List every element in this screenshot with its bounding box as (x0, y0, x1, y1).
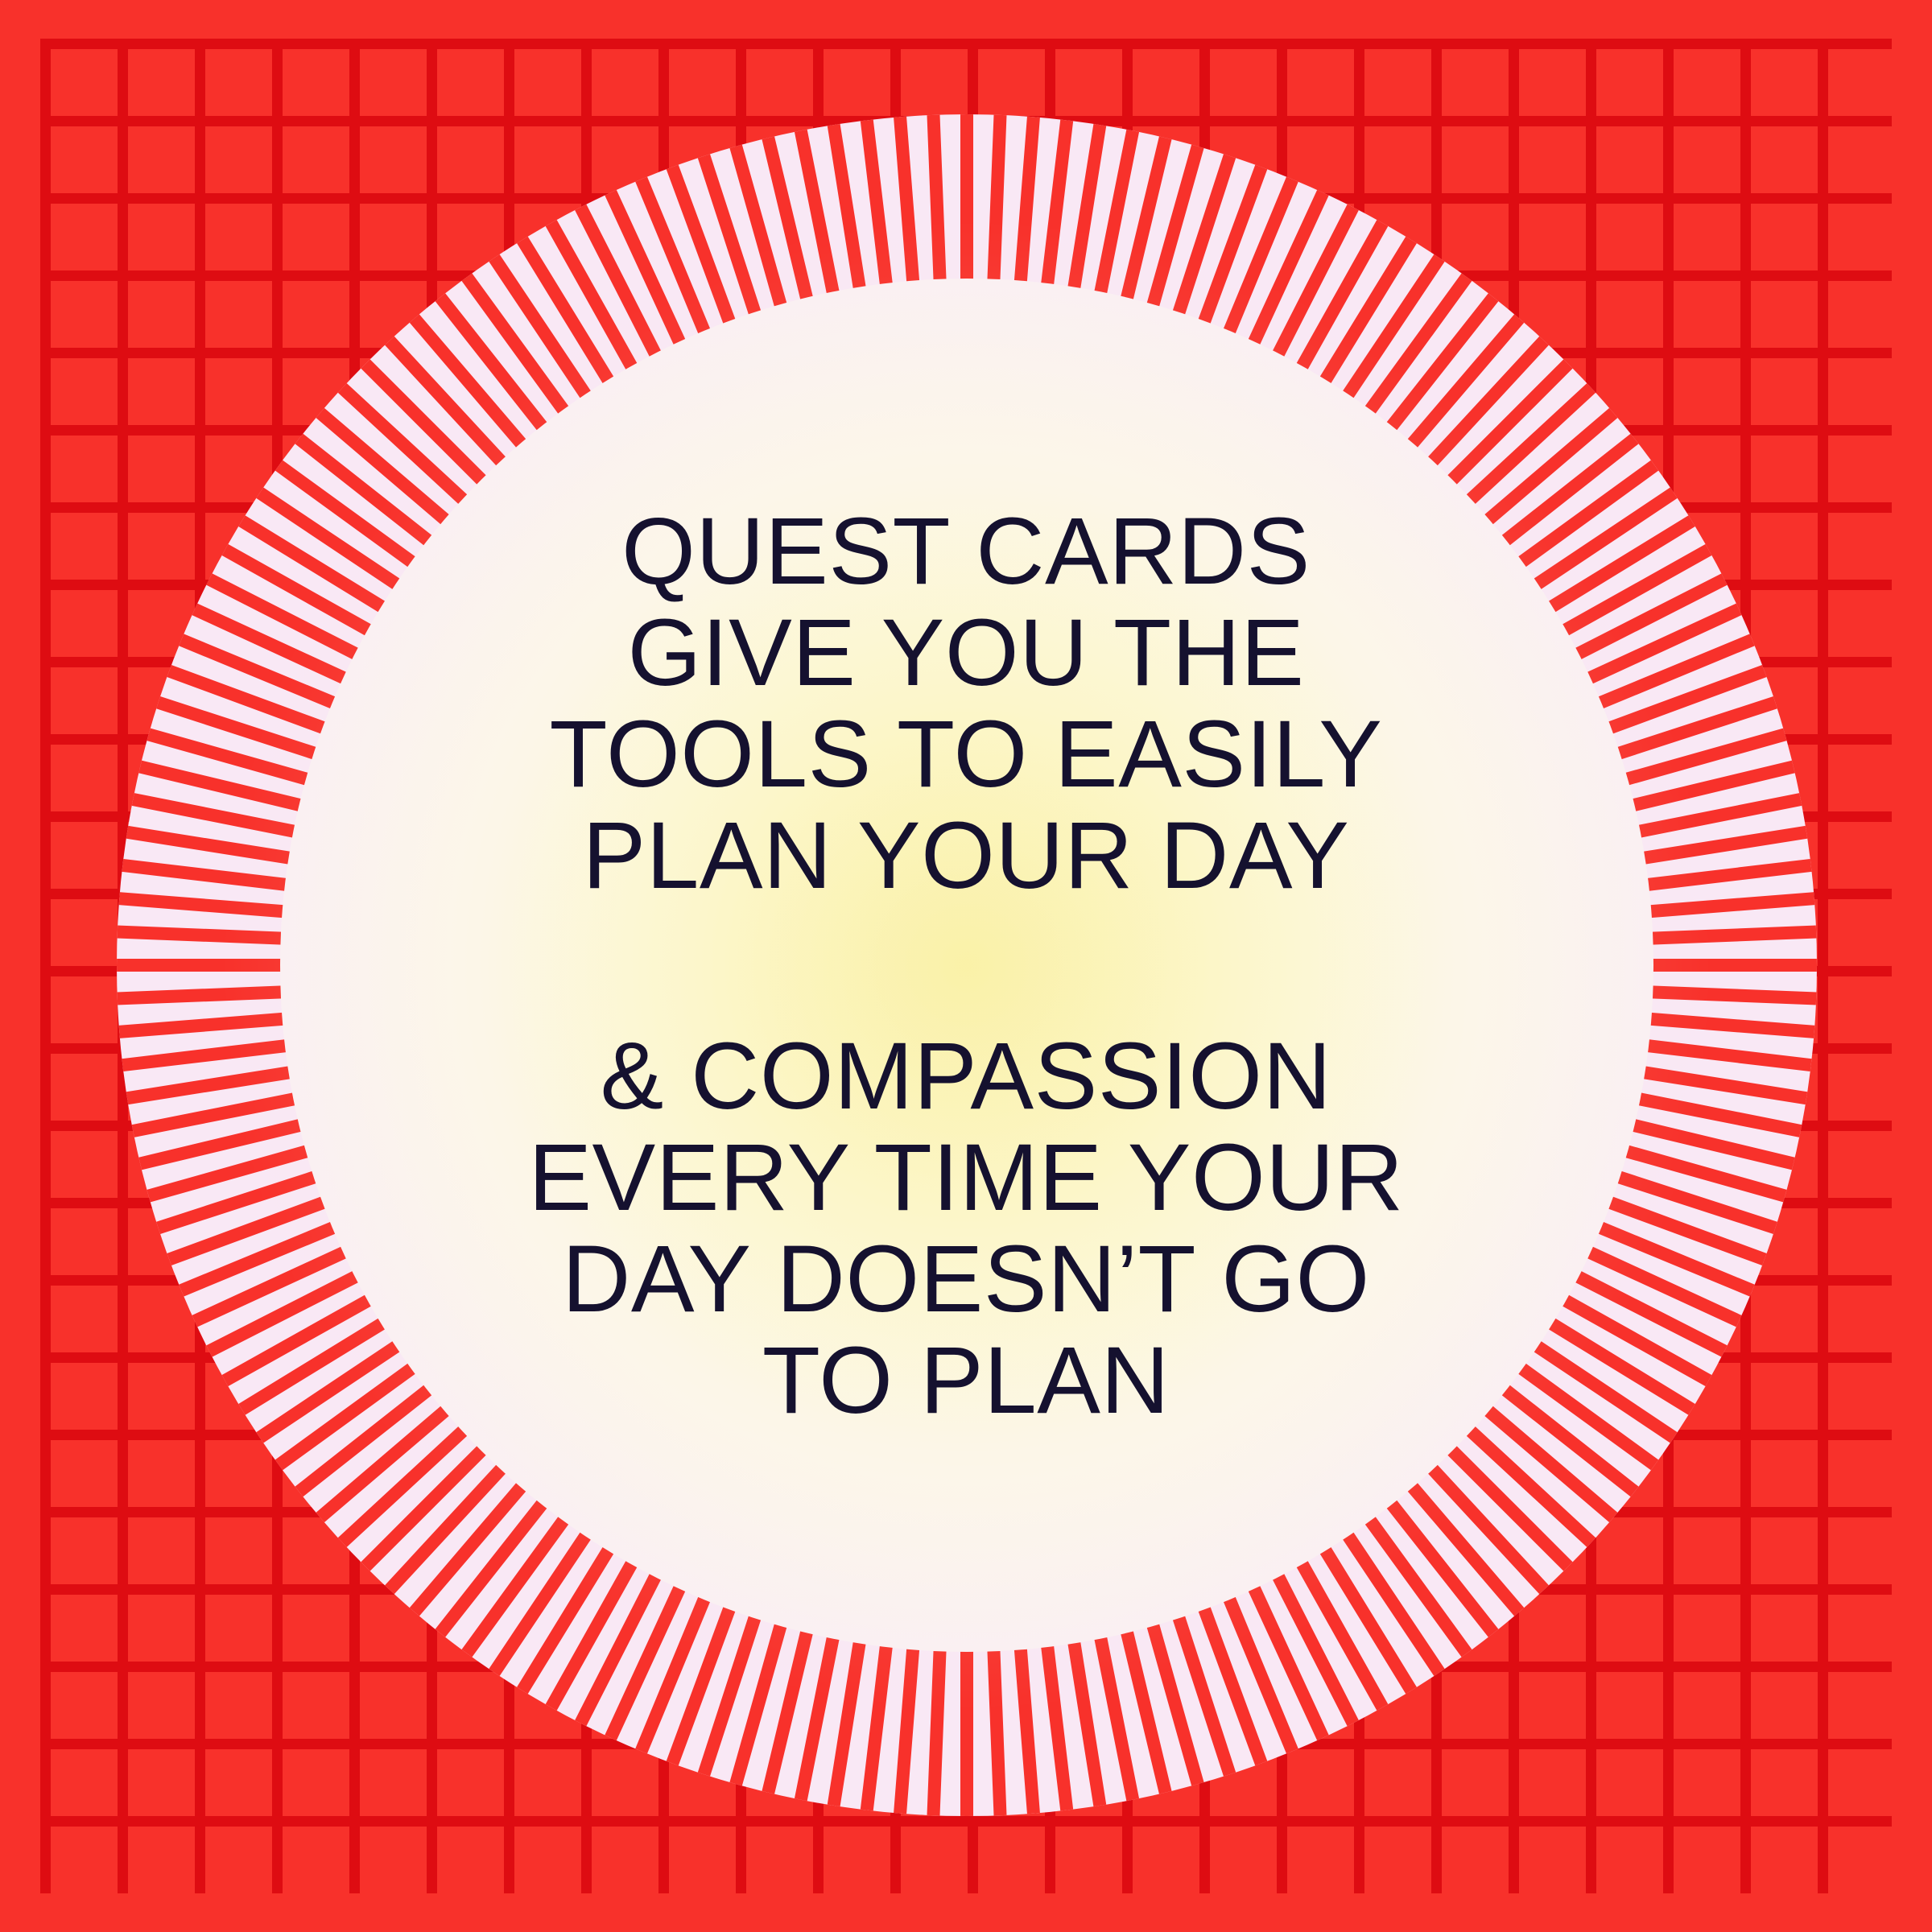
quote-card-canvas: QUEST CARDS GIVE YOU THE TOOLS TO EASILY… (0, 0, 1932, 1932)
sunburst-disc (117, 114, 1817, 1816)
sunburst-inner-disc (280, 279, 1653, 1652)
